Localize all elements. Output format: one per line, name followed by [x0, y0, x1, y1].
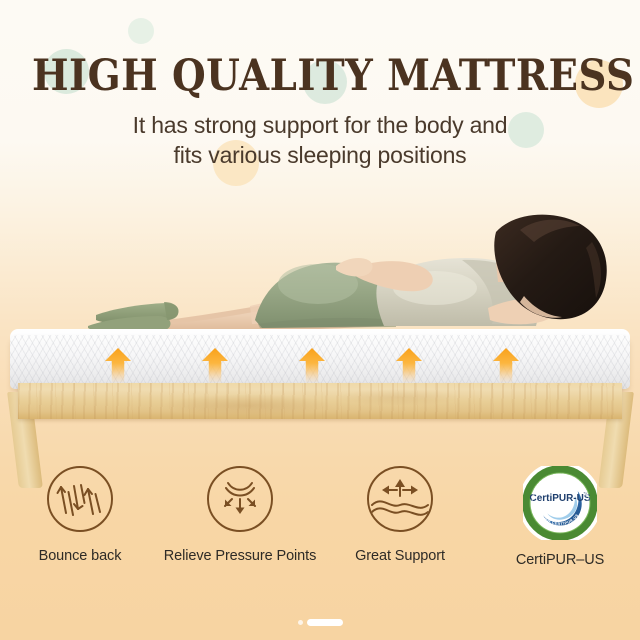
page-title: HIGH QUALITY MATTRESS: [32, 52, 608, 100]
feature-bounce-back[interactable]: Bounce back: [0, 466, 160, 606]
feature-label: Great Support: [355, 548, 445, 565]
great-support-icon: [367, 466, 433, 532]
mattress-scene: [0, 196, 640, 436]
subtitle-line-2: fits various sleeping positions: [0, 140, 640, 170]
product-marketing-image: HIGH QUALITY MATTRESS It has strong supp…: [0, 0, 640, 640]
header-block: HIGH QUALITY MATTRESS It has strong supp…: [0, 0, 640, 170]
carousel-dot[interactable]: [298, 620, 303, 625]
mattress-body: [10, 335, 630, 389]
model-illustration: [0, 196, 640, 346]
page-subtitle: It has strong support for the body and f…: [0, 110, 640, 170]
relieve-pressure-icon: [207, 466, 273, 532]
bounce-back-icon: [47, 466, 113, 532]
carousel-pagination[interactable]: [0, 619, 640, 626]
feature-label: Bounce back: [39, 548, 122, 565]
feature-relieve-pressure-points[interactable]: Relieve Pressure Points: [160, 466, 320, 606]
feature-label: CertiPUR–US: [516, 552, 604, 569]
carousel-dot-active[interactable]: [307, 619, 343, 626]
features-row: Bounce back: [0, 466, 640, 606]
badge-center-text: CertiPUR-US: [529, 493, 590, 504]
subtitle-line-1: It has strong support for the body and: [133, 112, 508, 138]
feature-great-support[interactable]: Great Support: [320, 466, 480, 606]
certipur-us-badge-icon: CertiPUR-US ™ CERTIFIED FOR MADE FLEXIBL…: [523, 466, 597, 540]
bed-frame-rail: [18, 383, 622, 419]
feature-certipur-us[interactable]: CertiPUR-US ™ CERTIFIED FOR MADE FLEXIBL…: [480, 466, 640, 606]
feature-label: Relieve Pressure Points: [164, 548, 316, 565]
